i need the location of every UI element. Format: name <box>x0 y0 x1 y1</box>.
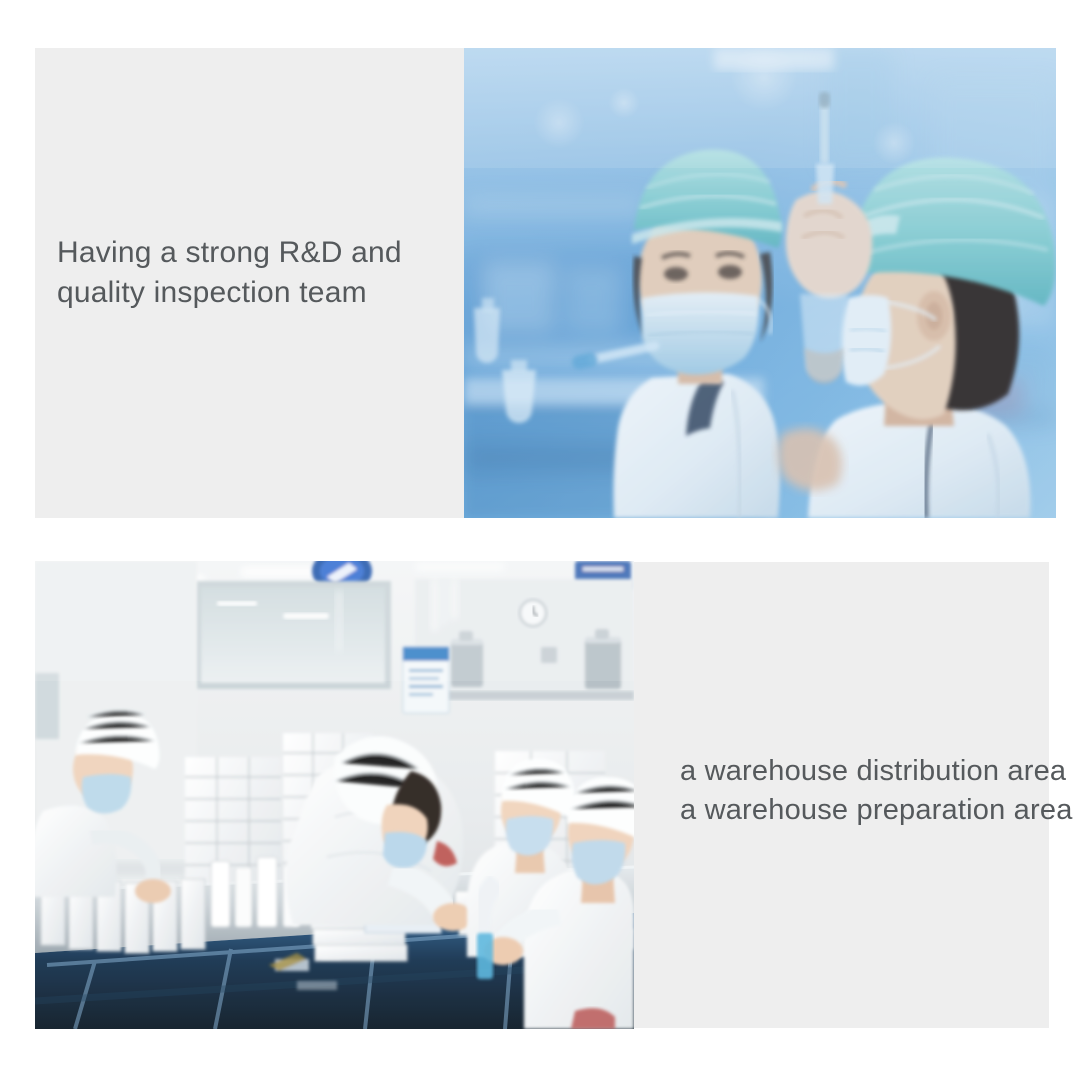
top-caption-text: Having a strong R&D and quality inspecti… <box>57 233 457 313</box>
warehouse-packing-photo-graphic <box>35 561 634 1029</box>
bottom-text-panel: a warehouse distribution area a warehous… <box>634 562 1049 1028</box>
bottom-caption-text: a warehouse distribution area a warehous… <box>680 752 1080 830</box>
lab-inspection-photo-graphic <box>464 48 1056 518</box>
bottom-section: a warehouse distribution area a warehous… <box>35 561 1049 1029</box>
top-text-panel: Having a strong R&D and quality inspecti… <box>35 48 464 518</box>
slide-root: Having a strong R&D and quality inspecti… <box>0 0 1080 1080</box>
top-section: Having a strong R&D and quality inspecti… <box>35 48 1056 518</box>
lab-inspection-photo <box>464 48 1056 518</box>
warehouse-packing-photo <box>35 561 634 1029</box>
